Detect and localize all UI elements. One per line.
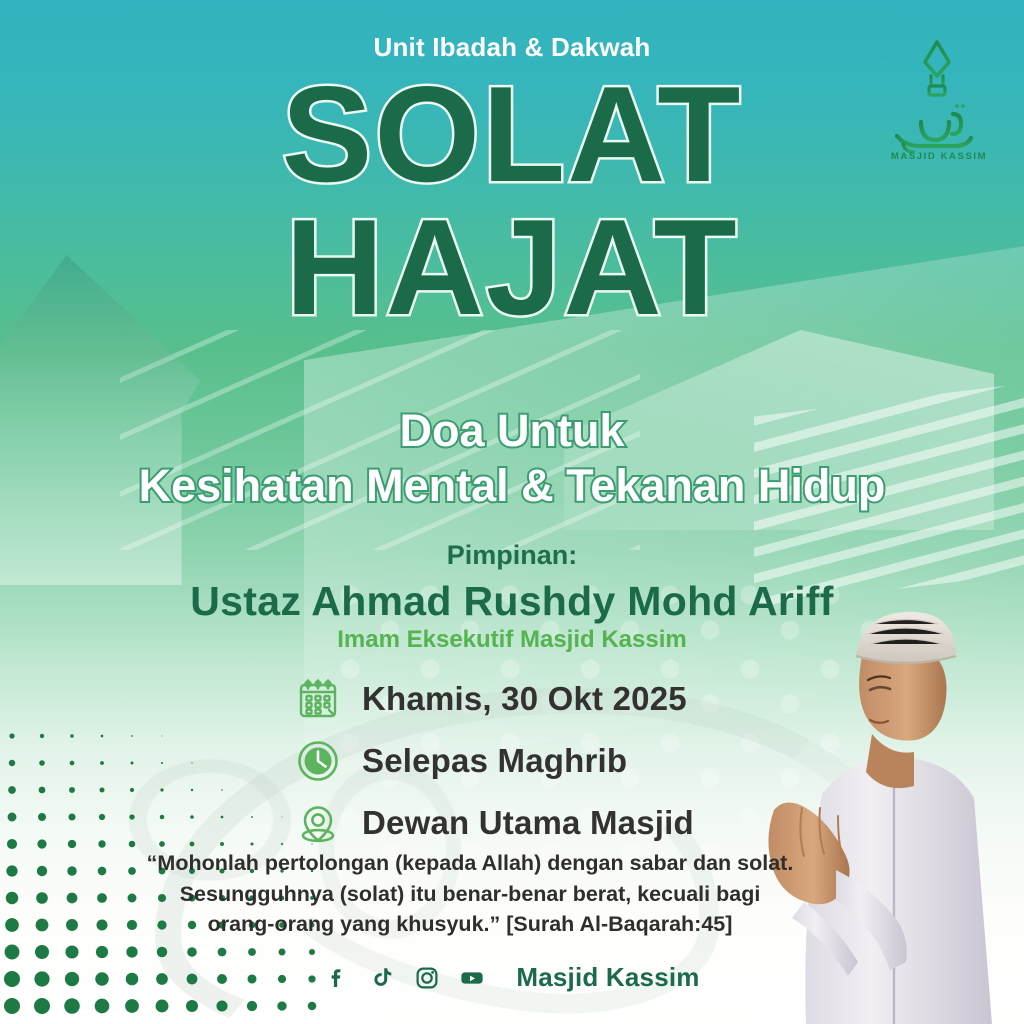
detail-text-time: Selepas Maghrib xyxy=(362,742,627,780)
detail-text-date: Khamis, 30 Okt 2025 xyxy=(362,680,687,718)
location-pin-icon xyxy=(296,801,340,845)
speaker-label: Pimpinan: xyxy=(0,540,1024,571)
subtitle-line2: Kesihatan Mental & Tekanan Hidup xyxy=(0,460,1024,512)
tiktok-icon[interactable] xyxy=(369,965,395,991)
praying-man-photo xyxy=(744,594,1024,1024)
instagram-icon[interactable] xyxy=(414,965,440,991)
quote-line-3: orang-orang yang khusyuk.” [Surah Al-Baq… xyxy=(120,909,820,940)
clock-icon xyxy=(296,739,340,783)
detail-row-location: Dewan Utama Masjid xyxy=(296,792,766,854)
detail-row-time: Selepas Maghrib xyxy=(296,730,766,792)
quote-block: “Mohonlah pertolongan (kepada Allah) den… xyxy=(120,848,820,940)
social-handle: Masjid Kassim xyxy=(516,962,699,993)
poster-canvas: MASJID KASSIM Unit Ibadah & Dakwah SOLAT… xyxy=(0,0,1024,1024)
youtube-icon[interactable] xyxy=(459,965,485,991)
calendar-icon xyxy=(296,677,340,721)
detail-row-date: Khamis, 30 Okt 2025 xyxy=(296,668,766,730)
quote-line-1: “Mohonlah pertolongan (kepada Allah) den… xyxy=(120,848,820,879)
page-title-line2: HAJAT xyxy=(0,205,1024,330)
event-details-list: Khamis, 30 Okt 2025 Selepas Maghrib Dewa… xyxy=(296,668,766,854)
page-title-line1: SOLAT xyxy=(0,72,1024,197)
subtitle-line1: Doa Untuk xyxy=(0,405,1024,457)
facebook-icon[interactable] xyxy=(324,965,350,991)
detail-text-location: Dewan Utama Masjid xyxy=(362,804,694,842)
footer-social-bar: Masjid Kassim xyxy=(0,962,1024,993)
quote-line-2: Sesungguhnya (solat) itu benar-benar ber… xyxy=(120,879,820,910)
